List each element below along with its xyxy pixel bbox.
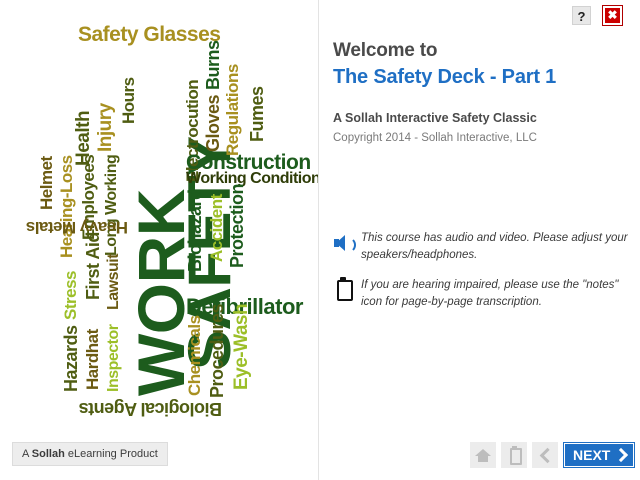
word-cloud-term: Eye-Wash [232,304,251,390]
notices-list: This course has audio and video. Please … [333,228,633,323]
word-cloud-term: Biohazard [186,189,204,272]
word-cloud-term: Stress [62,271,79,320]
chevron-right-icon [614,448,628,462]
word-cloud-term: Hours [120,77,137,124]
notes-button[interactable] [501,442,527,468]
word-cloud-term: Chemicals [186,315,203,396]
word-cloud-term: Accident [208,194,225,262]
home-icon [475,449,491,456]
notes-clipboard-icon [333,275,361,301]
word-cloud-term: Hazards [62,325,80,392]
window-toolbar: ? ✖ [319,0,640,30]
word-cloud-panel: Safety GlassesHealthInjuryHoursHelmetHea… [0,0,318,480]
notice-transcription: If you are hearing impaired, please use … [333,275,633,310]
home-icon-base [478,456,488,462]
word-cloud-term: Heavy Metals [26,219,128,236]
word-cloud-term: Hardhat [84,329,101,390]
word-cloud-term: Gloves [204,95,222,152]
word-cloud-term: Burns [204,40,222,90]
course-player-window: Safety GlassesHealthInjuryHoursHelmetHea… [0,0,640,480]
notice-transcription-text: If you are hearing impaired, please use … [361,275,633,310]
product-badge-prefix: A [22,448,32,460]
word-cloud-term: Fumes [248,86,266,142]
copyright-line: Copyright 2014 - Sollah Interactive, LLC [333,132,629,144]
speaker-icon [333,228,361,254]
home-button[interactable] [470,442,496,468]
content-panel: ? ✖ Welcome to The Safety Deck - Part 1 … [319,0,640,480]
notes-icon-tab [512,446,517,450]
word-cloud-term: Hearing-Loss [58,155,75,258]
product-badge: A Sollah eLearning Product [12,442,168,466]
word-cloud-term: Injury [96,103,115,152]
welcome-line: Welcome to [333,40,629,62]
help-button[interactable]: ? [572,6,591,25]
notice-audio: This course has audio and video. Please … [333,228,633,263]
notes-icon [510,448,522,465]
word-cloud-term: Inspector [106,324,122,392]
back-button[interactable] [532,442,558,468]
title-block: Welcome to The Safety Deck - Part 1 A So… [333,40,629,144]
word-cloud-term: Biological Agents [79,400,222,418]
course-title: The Safety Deck - Part 1 [333,66,629,89]
word-cloud-term: Procedures [208,304,226,398]
word-cloud-term: Protection [228,184,246,268]
word-cloud-term: Lawsuit [106,254,122,310]
navigation-bar: NEXT [470,441,635,469]
word-cloud-term: Long Working [104,155,120,256]
word-cloud-term: Helmet [38,156,55,210]
chevron-left-icon [540,448,556,464]
close-button[interactable]: ✖ [603,6,622,25]
product-badge-brand: Sollah [32,448,65,460]
word-cloud-term: Regulations [224,64,241,156]
word-cloud-term: Safety Glasses [78,24,220,45]
course-subtitle: A Sollah Interactive Safety Classic [333,111,629,125]
next-button[interactable]: NEXT [563,442,635,468]
product-badge-suffix: eLearning Product [65,448,158,460]
notice-audio-text: This course has audio and video. Please … [361,228,633,263]
word-cloud-term: Working Conditions [186,171,318,187]
word-cloud-term: First Aid [84,232,102,300]
next-button-label: NEXT [573,447,610,463]
